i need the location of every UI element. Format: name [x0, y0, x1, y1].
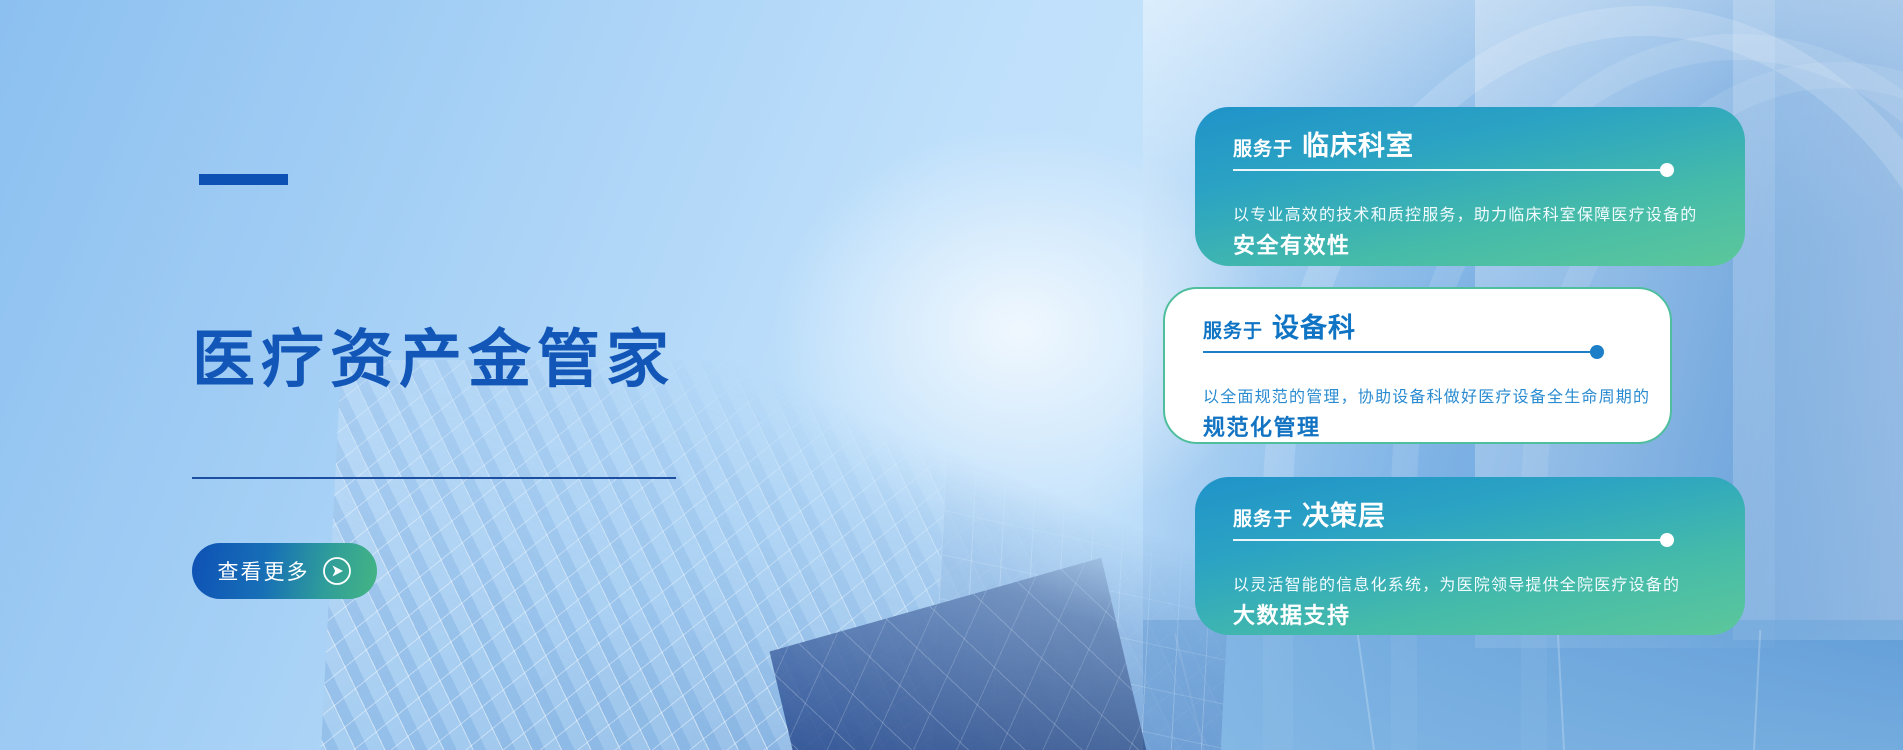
card-description-highlight: 大数据支持 [1233, 603, 1351, 628]
card-description-highlight: 安全有效性 [1233, 233, 1351, 258]
card-subject: 设备科 [1272, 306, 1356, 345]
card-prefix: 服务于 [1203, 316, 1263, 343]
card-prefix: 服务于 [1233, 504, 1293, 531]
card-description: 以专业高效的技术和质控服务，助力临床科室保障医疗设备的 安全有效性 [1233, 201, 1703, 264]
hero-banner: 医疗资产金管家 查看更多 服务于 临床科室 以专业高效的技术和质控服务，助力临床… [0, 0, 1903, 750]
card-rule-dot [1590, 345, 1604, 359]
card-rule-dot [1660, 163, 1674, 177]
circle-arrow-right-icon [322, 556, 352, 586]
card-rule [1233, 539, 1669, 541]
card-rule [1203, 351, 1599, 353]
service-card-management[interactable]: 服务于 决策层 以灵活智能的信息化系统，为医院领导提供全院医疗设备的 大数据支持 [1195, 477, 1745, 635]
page-title: 医疗资产金管家 [192, 329, 675, 392]
card-rule-line [1233, 539, 1669, 541]
hero-left-column: 医疗资产金管家 查看更多 [0, 0, 900, 750]
title-accent-bar [199, 174, 288, 185]
card-rule-dot [1660, 533, 1674, 547]
card-subject: 决策层 [1302, 494, 1386, 533]
card-heading: 服务于 临床科室 [1233, 124, 1414, 163]
view-more-button[interactable]: 查看更多 [192, 543, 377, 599]
card-subject: 临床科室 [1302, 124, 1414, 163]
corridor-wall-right [1733, 0, 1903, 640]
card-rule [1233, 169, 1669, 171]
card-heading: 服务于 决策层 [1233, 494, 1386, 533]
view-more-label: 查看更多 [218, 556, 310, 586]
card-description: 以全面规范的管理，协助设备科做好医疗设备全生命周期的 规范化管理 [1203, 383, 1673, 446]
card-heading: 服务于 设备科 [1203, 306, 1356, 345]
card-description: 以灵活智能的信息化系统，为医院领导提供全院医疗设备的 大数据支持 [1233, 571, 1703, 634]
card-prefix: 服务于 [1233, 134, 1293, 161]
card-description-highlight: 规范化管理 [1203, 415, 1321, 440]
corridor-floor [1143, 620, 1903, 750]
card-description-text: 以灵活智能的信息化系统，为医院领导提供全院医疗设备的 [1233, 577, 1680, 594]
hero-divider [192, 477, 676, 479]
card-description-text: 以专业高效的技术和质控服务，助力临床科室保障医疗设备的 [1233, 207, 1697, 224]
service-card-equipment[interactable]: 服务于 设备科 以全面规范的管理，协助设备科做好医疗设备全生命周期的 规范化管理 [1163, 287, 1672, 444]
service-card-clinical[interactable]: 服务于 临床科室 以专业高效的技术和质控服务，助力临床科室保障医疗设备的 安全有… [1195, 107, 1745, 266]
card-rule-line [1233, 169, 1669, 171]
card-rule-line [1203, 351, 1599, 353]
card-description-text: 以全面规范的管理，协助设备科做好医疗设备全生命周期的 [1203, 389, 1650, 406]
